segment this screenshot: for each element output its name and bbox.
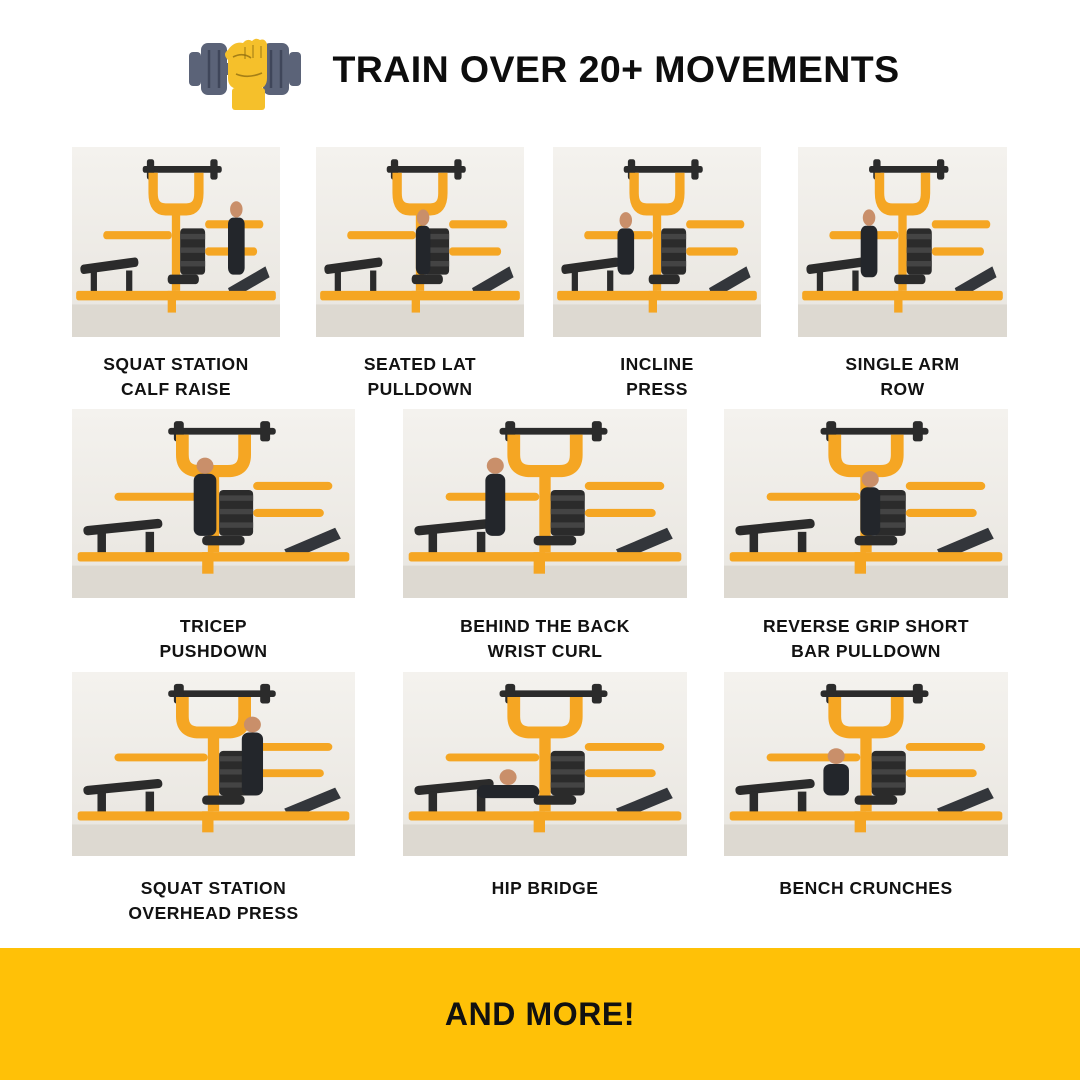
and-more-banner: AND MORE! [0,948,1080,1080]
movement-card[interactable]: REVERSE GRIP SHORT BAR PULLDOWN [724,409,1008,598]
movement-card[interactable]: BENCH CRUNCHES [724,672,1008,856]
movement-card[interactable]: HIP BRIDGE [403,672,687,856]
single-arm-row-photo[interactable] [798,147,1007,337]
movement-row: TRICEP PUSHDOWN [0,409,1080,674]
movement-row: SQUAT STATION OVERHEAD PRESS [0,672,1080,936]
incline-press-photo[interactable] [553,147,761,337]
squat-station-calf-raise-photo[interactable] [72,147,280,337]
movement-card[interactable]: INCLINE PRESS [553,147,761,337]
movement-caption: REVERSE GRIP SHORT BAR PULLDOWN [701,614,1031,664]
header: TRAIN OVER 20+ MOVEMENTS [0,0,1080,140]
movement-card[interactable]: SINGLE ARM ROW [798,147,1007,337]
movement-card[interactable]: SEATED LAT PULLDOWN [316,147,524,337]
squat-station-overhead-press-photo[interactable] [72,672,355,856]
movement-caption: SINGLE ARM ROW [738,352,1068,402]
movement-card[interactable]: TRICEP PUSHDOWN [72,409,355,598]
movement-caption: BEHIND THE BACK WRIST CURL [380,614,710,664]
banner-label: AND MORE! [445,996,635,1033]
tricep-pushdown-photo[interactable] [72,409,355,598]
movement-caption: HIP BRIDGE [380,876,710,901]
behind-the-back-wrist-curl-photo[interactable] [403,409,687,598]
seated-lat-pulldown-photo[interactable] [316,147,524,337]
movement-row: SQUAT STATION CALF RAISE [0,147,1080,412]
movement-caption: SQUAT STATION OVERHEAD PRESS [49,876,379,926]
movement-caption: BENCH CRUNCHES [701,876,1031,901]
page-title: TRAIN OVER 20+ MOVEMENTS [333,51,900,89]
hip-bridge-photo[interactable] [403,672,687,856]
movement-caption: TRICEP PUSHDOWN [49,614,379,664]
movement-card[interactable]: BEHIND THE BACK WRIST CURL [403,409,687,598]
reverse-grip-short-bar-pulldown-photo[interactable] [724,409,1008,598]
bench-crunches-photo[interactable] [724,672,1008,856]
movement-card[interactable]: SQUAT STATION OVERHEAD PRESS [72,672,355,856]
fist-dumbbell-icon [181,30,309,110]
movement-card[interactable]: SQUAT STATION CALF RAISE [72,147,280,337]
